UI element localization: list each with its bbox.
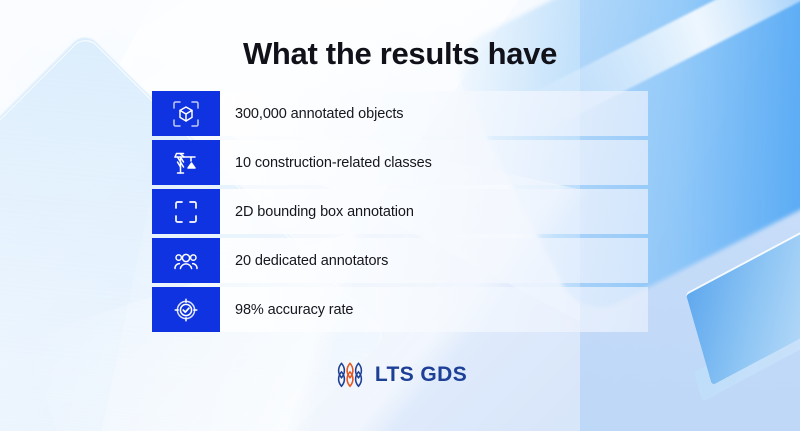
- list-item-label-panel: 2D bounding box annotation: [220, 189, 648, 234]
- list-item-label-panel: 98% accuracy rate: [220, 287, 648, 332]
- list-item: 300,000 annotated objects: [152, 91, 648, 136]
- list-item-label-panel: 10 construction-related classes: [220, 140, 648, 185]
- list-item-label-panel: 300,000 annotated objects: [220, 91, 648, 136]
- slide-content: What the results have 300,000 annotated …: [0, 0, 800, 431]
- stats-list: 300,000 annotated objects: [152, 91, 648, 336]
- page-title: What the results have: [0, 36, 800, 72]
- list-item: 20 dedicated annotators: [152, 238, 648, 283]
- cube-scan-icon: [152, 91, 220, 136]
- list-item-label: 20 dedicated annotators: [235, 253, 388, 269]
- list-item: 98% accuracy rate: [152, 287, 648, 332]
- list-item: 10 construction-related classes: [152, 140, 648, 185]
- lts-gds-leaf-mark-icon: [333, 361, 367, 389]
- people-group-icon: [152, 238, 220, 283]
- brand-logo: LTS GDS: [0, 361, 800, 389]
- list-item-label: 10 construction-related classes: [235, 155, 432, 171]
- list-item-label: 98% accuracy rate: [235, 302, 353, 318]
- bounding-box-icon: [152, 189, 220, 234]
- brand-logo-text: LTS GDS: [375, 363, 467, 387]
- list-item-label: 300,000 annotated objects: [235, 106, 403, 122]
- slide-canvas: What the results have 300,000 annotated …: [0, 0, 800, 431]
- list-item-label-panel: 20 dedicated annotators: [220, 238, 648, 283]
- list-item: 2D bounding box annotation: [152, 189, 648, 234]
- target-check-icon: [152, 287, 220, 332]
- list-item-label: 2D bounding box annotation: [235, 204, 414, 220]
- construction-crane-icon: [152, 140, 220, 185]
